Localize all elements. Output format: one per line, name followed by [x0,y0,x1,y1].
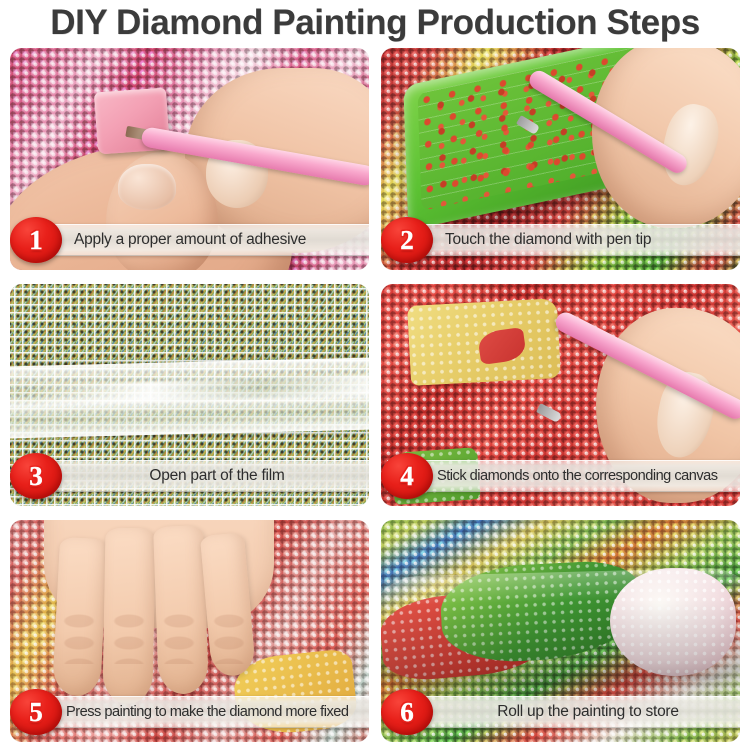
step-panel-5[interactable]: Press painting to make the diamond more … [10,520,369,742]
step-caption-bar-2: Touch the diamond with pen tip [391,224,740,256]
step-number-3: 3 [29,463,43,490]
page-title: DIY Diamond Painting Production Steps [50,3,700,43]
infographic-page: DIY Diamond Painting Production Steps Ap… [0,0,750,750]
step-caption-3: Open part of the film [20,467,369,485]
step-caption-bar-5: Press painting to make the diamond more … [16,696,369,728]
step-panel-1[interactable]: Apply a proper amount of adhesive 1 [10,48,369,270]
step-caption-6: Roll up the painting to store [391,703,740,721]
step-caption-1: Apply a proper amount of adhesive [20,231,369,249]
step-caption-bar-1: Apply a proper amount of adhesive [20,224,369,256]
step-number-1: 1 [29,227,43,254]
step-panel-6[interactable]: Roll up the painting to store 6 [381,520,740,742]
step-caption-5: Press painting to make the diamond more … [16,704,369,720]
step-caption-bar-6: Roll up the painting to store [391,696,740,728]
step-badge-4: 4 [381,453,433,499]
rolled-canvas-shading [381,567,740,689]
step-number-4: 4 [400,463,414,490]
step-panel-2[interactable]: Touch the diamond with pen tip 2 [381,48,740,270]
step-caption-bar-3: Open part of the film [20,460,369,492]
steps-grid: Apply a proper amount of adhesive 1 Touc… [10,48,740,742]
step-number-6: 6 [400,699,414,726]
step-number-5: 5 [29,699,43,726]
step-panel-4[interactable]: Stick diamonds onto the corresponding ca… [381,284,740,506]
step-caption-2: Touch the diamond with pen tip [391,231,740,249]
fingernail-1 [118,164,176,210]
page-title-bar: DIY Diamond Painting Production Steps [0,0,750,46]
knuckle-creases [54,610,254,664]
step-caption-4: Stick diamonds onto the corresponding ca… [387,468,740,484]
step-badge-1: 1 [10,217,62,263]
step-caption-bar-4: Stick diamonds onto the corresponding ca… [387,460,740,492]
step-badge-3: 3 [10,453,62,499]
step-panel-3[interactable]: Open part of the film 3 [10,284,369,506]
step-badge-6: 6 [381,689,433,735]
step-badge-5: 5 [10,689,62,735]
step-badge-2: 2 [381,217,433,263]
step-number-2: 2 [400,227,414,254]
